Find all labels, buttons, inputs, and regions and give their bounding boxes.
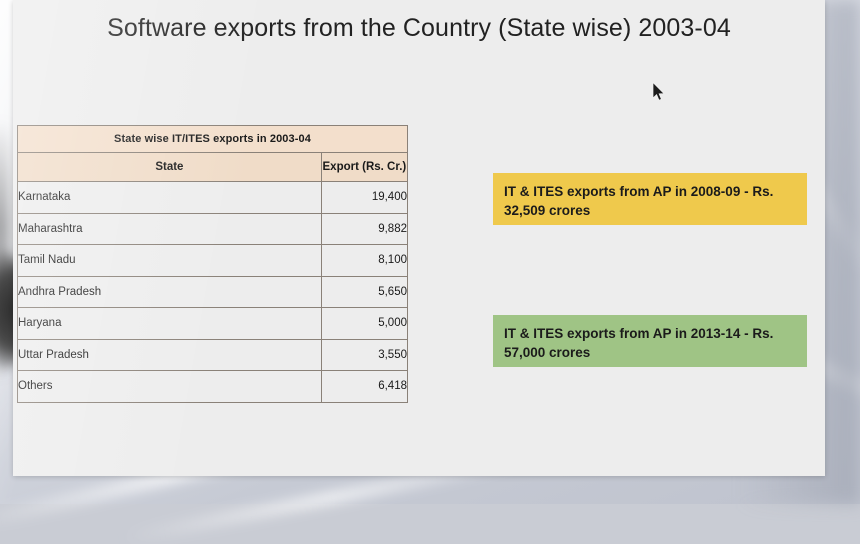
table-row: Andhra Pradesh 5,650 [18,276,408,308]
cell-export: 19,400 [321,182,407,214]
cell-export: 5,650 [321,276,407,308]
table-caption: State wise IT/ITES exports in 2003-04 [18,126,408,153]
table-row: Uttar Pradesh 3,550 [18,339,408,371]
mouse-pointer-arrow-icon [652,82,666,102]
cell-export: 8,100 [321,245,407,277]
table-row: Haryana 5,000 [18,308,408,340]
cell-state: Andhra Pradesh [18,276,322,308]
column-header-state: State [18,153,322,182]
cell-export: 6,418 [321,371,407,403]
slide-title: Software exports from the Country (State… [13,14,825,43]
cell-state: Uttar Pradesh [18,339,322,371]
table-row: Maharashtra 9,882 [18,213,408,245]
cell-export: 9,882 [321,213,407,245]
table-caption-row: State wise IT/ITES exports in 2003-04 [18,126,408,153]
presentation-slide: Software exports from the Country (State… [13,0,825,476]
cell-state: Maharashtra [18,213,322,245]
cell-state: Tamil Nadu [18,245,322,277]
table-row: Others 6,418 [18,371,408,403]
table-row: Karnataka 19,400 [18,182,408,214]
cell-state: Haryana [18,308,322,340]
table-header-row: State Export (Rs. Cr.) [18,153,408,182]
state-wise-exports-table: State wise IT/ITES exports in 2003-04 St… [17,125,408,403]
column-header-export: Export (Rs. Cr.) [321,153,407,182]
callout-ap-exports-2008-09: IT & ITES exports from AP in 2008-09 - R… [493,173,807,225]
cell-state: Others [18,371,322,403]
cell-export: 5,000 [321,308,407,340]
cell-export: 3,550 [321,339,407,371]
callout-ap-exports-2013-14: IT & ITES exports from AP in 2013-14 - R… [493,315,807,367]
table-row: Tamil Nadu 8,100 [18,245,408,277]
cell-state: Karnataka [18,182,322,214]
